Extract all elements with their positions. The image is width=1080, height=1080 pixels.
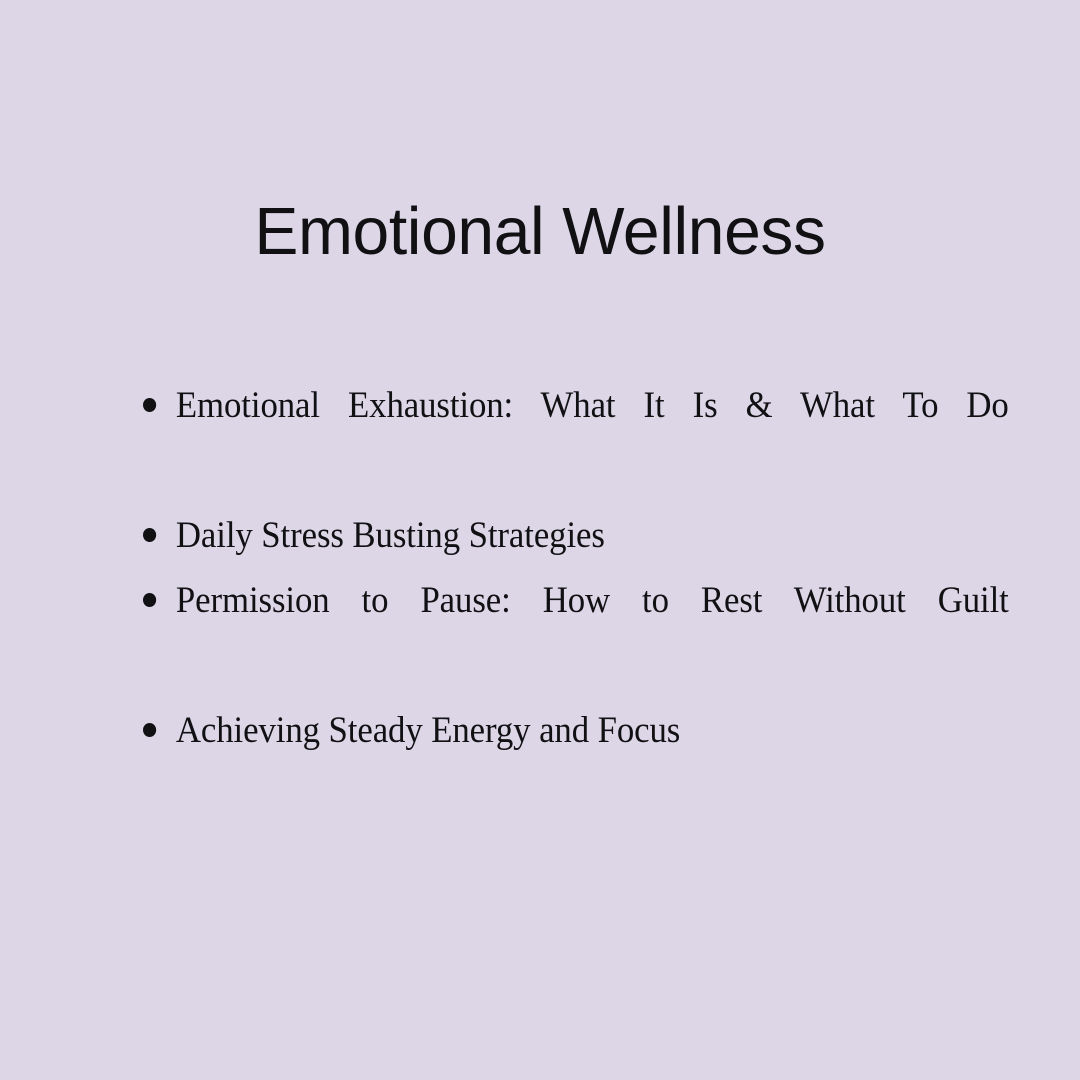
bullet-dot-icon (143, 528, 156, 542)
list-item-label: Achieving Steady Energy and Focus (176, 710, 680, 751)
page-title: Emotional Wellness (254, 196, 825, 268)
list-item: Emotional Exhaustion: What It Is & What … (143, 373, 1009, 503)
list-item-label: Emotional Exhaustion: What It Is & What … (176, 385, 1009, 491)
bullet-dot-icon (143, 593, 156, 607)
list-item-label: Daily Stress Busting Strategies (176, 515, 605, 556)
topic-list: Emotional Exhaustion: What It Is & What … (143, 373, 975, 763)
title-container: Emotional Wellness (0, 196, 1080, 268)
list-item: Permission to Pause: How to Rest Without… (143, 568, 1009, 698)
bullet-dot-icon (143, 723, 156, 737)
bullet-dot-icon (143, 398, 156, 412)
list-item: Achieving Steady Energy and Focus (143, 698, 1009, 763)
slide-canvas: Emotional Wellness Emotional Exhaustion:… (0, 0, 1080, 1080)
list-item: Daily Stress Busting Strategies (143, 503, 1009, 568)
list-item-label: Permission to Pause: How to Rest Without… (176, 580, 1009, 686)
